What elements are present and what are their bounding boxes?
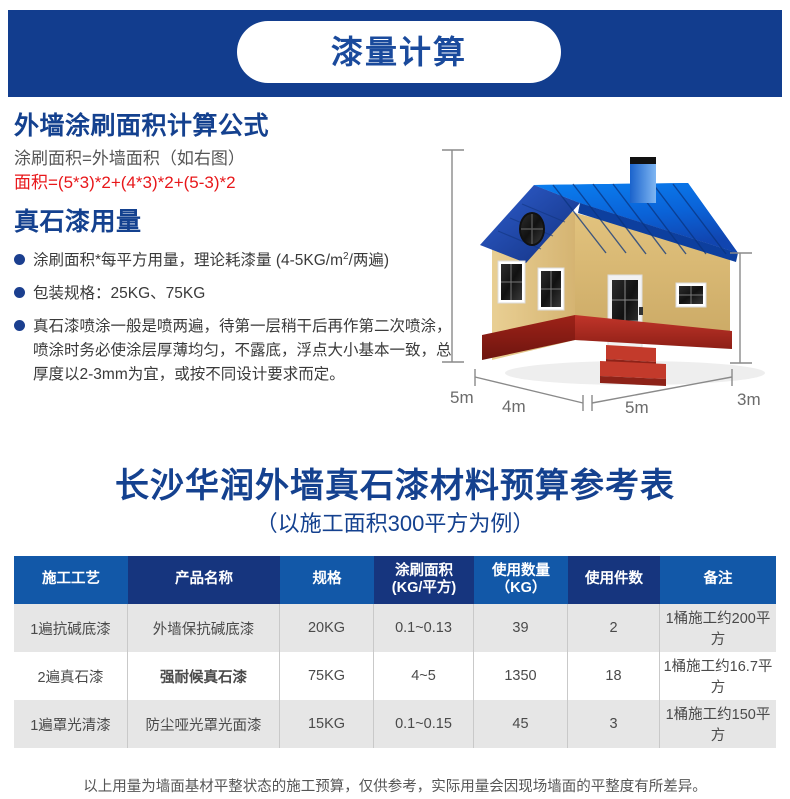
- cell-quantity: 1350: [474, 652, 568, 700]
- budget-table: 施工工艺 产品名称 规格 涂刷面积 (KG/平方) 使用数量 （KG） 使用件数…: [14, 556, 776, 748]
- bullet-text: 包装规格：25KG、75KG: [33, 282, 205, 306]
- cell-pieces: 3: [568, 700, 660, 748]
- bullet-dot-icon: [14, 287, 25, 298]
- header-line-1: 使用数量: [492, 563, 550, 580]
- column-header-quantity: 使用数量 （KG）: [474, 556, 568, 604]
- top-banner: 漆量计算: [8, 10, 782, 97]
- cell-spec: 75KG: [280, 652, 374, 700]
- usage-bullet-list: 涂刷面积*每平方用量，理论耗漆量 (4-5KG/m2/两遍) 包装规格：25KG…: [14, 249, 464, 387]
- header-line-1: 产品名称: [175, 571, 233, 588]
- cell-process: 2遍真石漆: [14, 652, 128, 700]
- dimension-label-height-right: 3m: [737, 390, 761, 410]
- bullet-text: 涂刷面积*每平方用量，理论耗漆量 (4-5KG/m2/两遍): [33, 249, 389, 273]
- section-subtitle: （以施工面积300平方为例）: [0, 506, 790, 538]
- cell-spec: 20KG: [280, 604, 374, 652]
- header-line-1: 使用件数: [585, 571, 643, 588]
- table-row: 1遍罩光清漆 防尘哑光罩光面漆 15KG 0.1~0.15 45 3 1桶施工约…: [14, 700, 776, 748]
- cell-product: 强耐候真石漆: [128, 652, 280, 700]
- cell-spec: 15KG: [280, 700, 374, 748]
- column-header-process: 施工工艺: [14, 556, 128, 604]
- cell-quantity: 39: [474, 604, 568, 652]
- house-illustration: 5m 3m 4m 5m: [440, 135, 790, 430]
- dimension-label-width-left: 4m: [502, 397, 526, 417]
- list-item: 真石漆喷涂一般是喷两遍，待第一层稍干后再作第二次喷涂，喷涂时务必使涂层厚薄均匀，…: [14, 315, 464, 387]
- cell-coverage: 4~5: [374, 652, 474, 700]
- formula-heading: 外墙涂刷面积计算公式: [14, 112, 464, 141]
- column-header-note: 备注: [660, 556, 776, 604]
- header-line-1: 涂刷面积: [395, 563, 453, 580]
- bullet-text: 真石漆喷涂一般是喷两遍，待第一层稍干后再作第二次喷涂，喷涂时务必使涂层厚薄均匀，…: [33, 315, 453, 387]
- list-item: 涂刷面积*每平方用量，理论耗漆量 (4-5KG/m2/两遍): [14, 249, 464, 273]
- cell-coverage: 0.1~0.13: [374, 604, 474, 652]
- column-header-product: 产品名称: [128, 556, 280, 604]
- cell-pieces: 2: [568, 604, 660, 652]
- header-line-1: 施工工艺: [42, 571, 100, 588]
- left-content-column: 外墙涂刷面积计算公式 涂刷面积=外墙面积（如右图） 面积=(5*3)*2+(4*…: [14, 112, 464, 396]
- formula-line-1: 涂刷面积=外墙面积（如右图）: [14, 148, 464, 170]
- cell-note: 1桶施工约200平方: [660, 604, 776, 652]
- cell-product: 外墙保抗碱底漆: [128, 604, 280, 652]
- cell-product: 防尘哑光罩光面漆: [128, 700, 280, 748]
- table-row: 2遍真石漆 强耐候真石漆 75KG 4~5 1350 18 1桶施工约16.7平…: [14, 652, 776, 700]
- formula-line-2: 面积=(5*3)*2+(4*3)*2+(5-3)*2: [14, 172, 464, 194]
- column-header-pieces: 使用件数: [568, 556, 660, 604]
- table-header-row: 施工工艺 产品名称 规格 涂刷面积 (KG/平方) 使用数量 （KG） 使用件数…: [14, 556, 776, 604]
- bullet-dot-icon: [14, 254, 25, 265]
- cell-quantity: 45: [474, 700, 568, 748]
- list-item: 包装规格：25KG、75KG: [14, 282, 464, 306]
- page-root: 漆量计算 外墙涂刷面积计算公式 涂刷面积=外墙面积（如右图） 面积=(5*3)*…: [0, 0, 790, 799]
- column-header-spec: 规格: [280, 556, 374, 604]
- cell-note: 1桶施工约16.7平方: [660, 652, 776, 700]
- bullet-dot-icon: [14, 320, 25, 331]
- header-line-1: 规格: [313, 571, 342, 588]
- dimension-label-width-right: 5m: [625, 398, 649, 418]
- cell-process: 1遍抗碱底漆: [14, 604, 128, 652]
- table-footnote: 以上用量为墙面基材平整状态的施工预算，仅供参考，实际用量会因现场墙面的平整度有所…: [0, 775, 790, 796]
- header-line-2: (KG/平方): [392, 580, 456, 597]
- section-title: 长沙华润外墙真石漆材料预算参考表: [0, 458, 790, 507]
- house-diagram-svg: [440, 135, 790, 430]
- header-line-2: （KG）: [496, 580, 547, 597]
- cell-process: 1遍罩光清漆: [14, 700, 128, 748]
- header-line-1: 备注: [704, 571, 733, 588]
- cell-pieces: 18: [568, 652, 660, 700]
- cell-coverage: 0.1~0.15: [374, 700, 474, 748]
- banner-pill: 漆量计算: [237, 21, 561, 83]
- table-row: 1遍抗碱底漆 外墙保抗碱底漆 20KG 0.1~0.13 39 2 1桶施工约2…: [14, 604, 776, 652]
- banner-title: 漆量计算: [331, 36, 467, 68]
- cell-note: 1桶施工约150平方: [660, 700, 776, 748]
- dimension-label-height-left: 5m: [450, 388, 474, 408]
- column-header-coverage: 涂刷面积 (KG/平方): [374, 556, 474, 604]
- usage-heading: 真石漆用量: [14, 208, 464, 237]
